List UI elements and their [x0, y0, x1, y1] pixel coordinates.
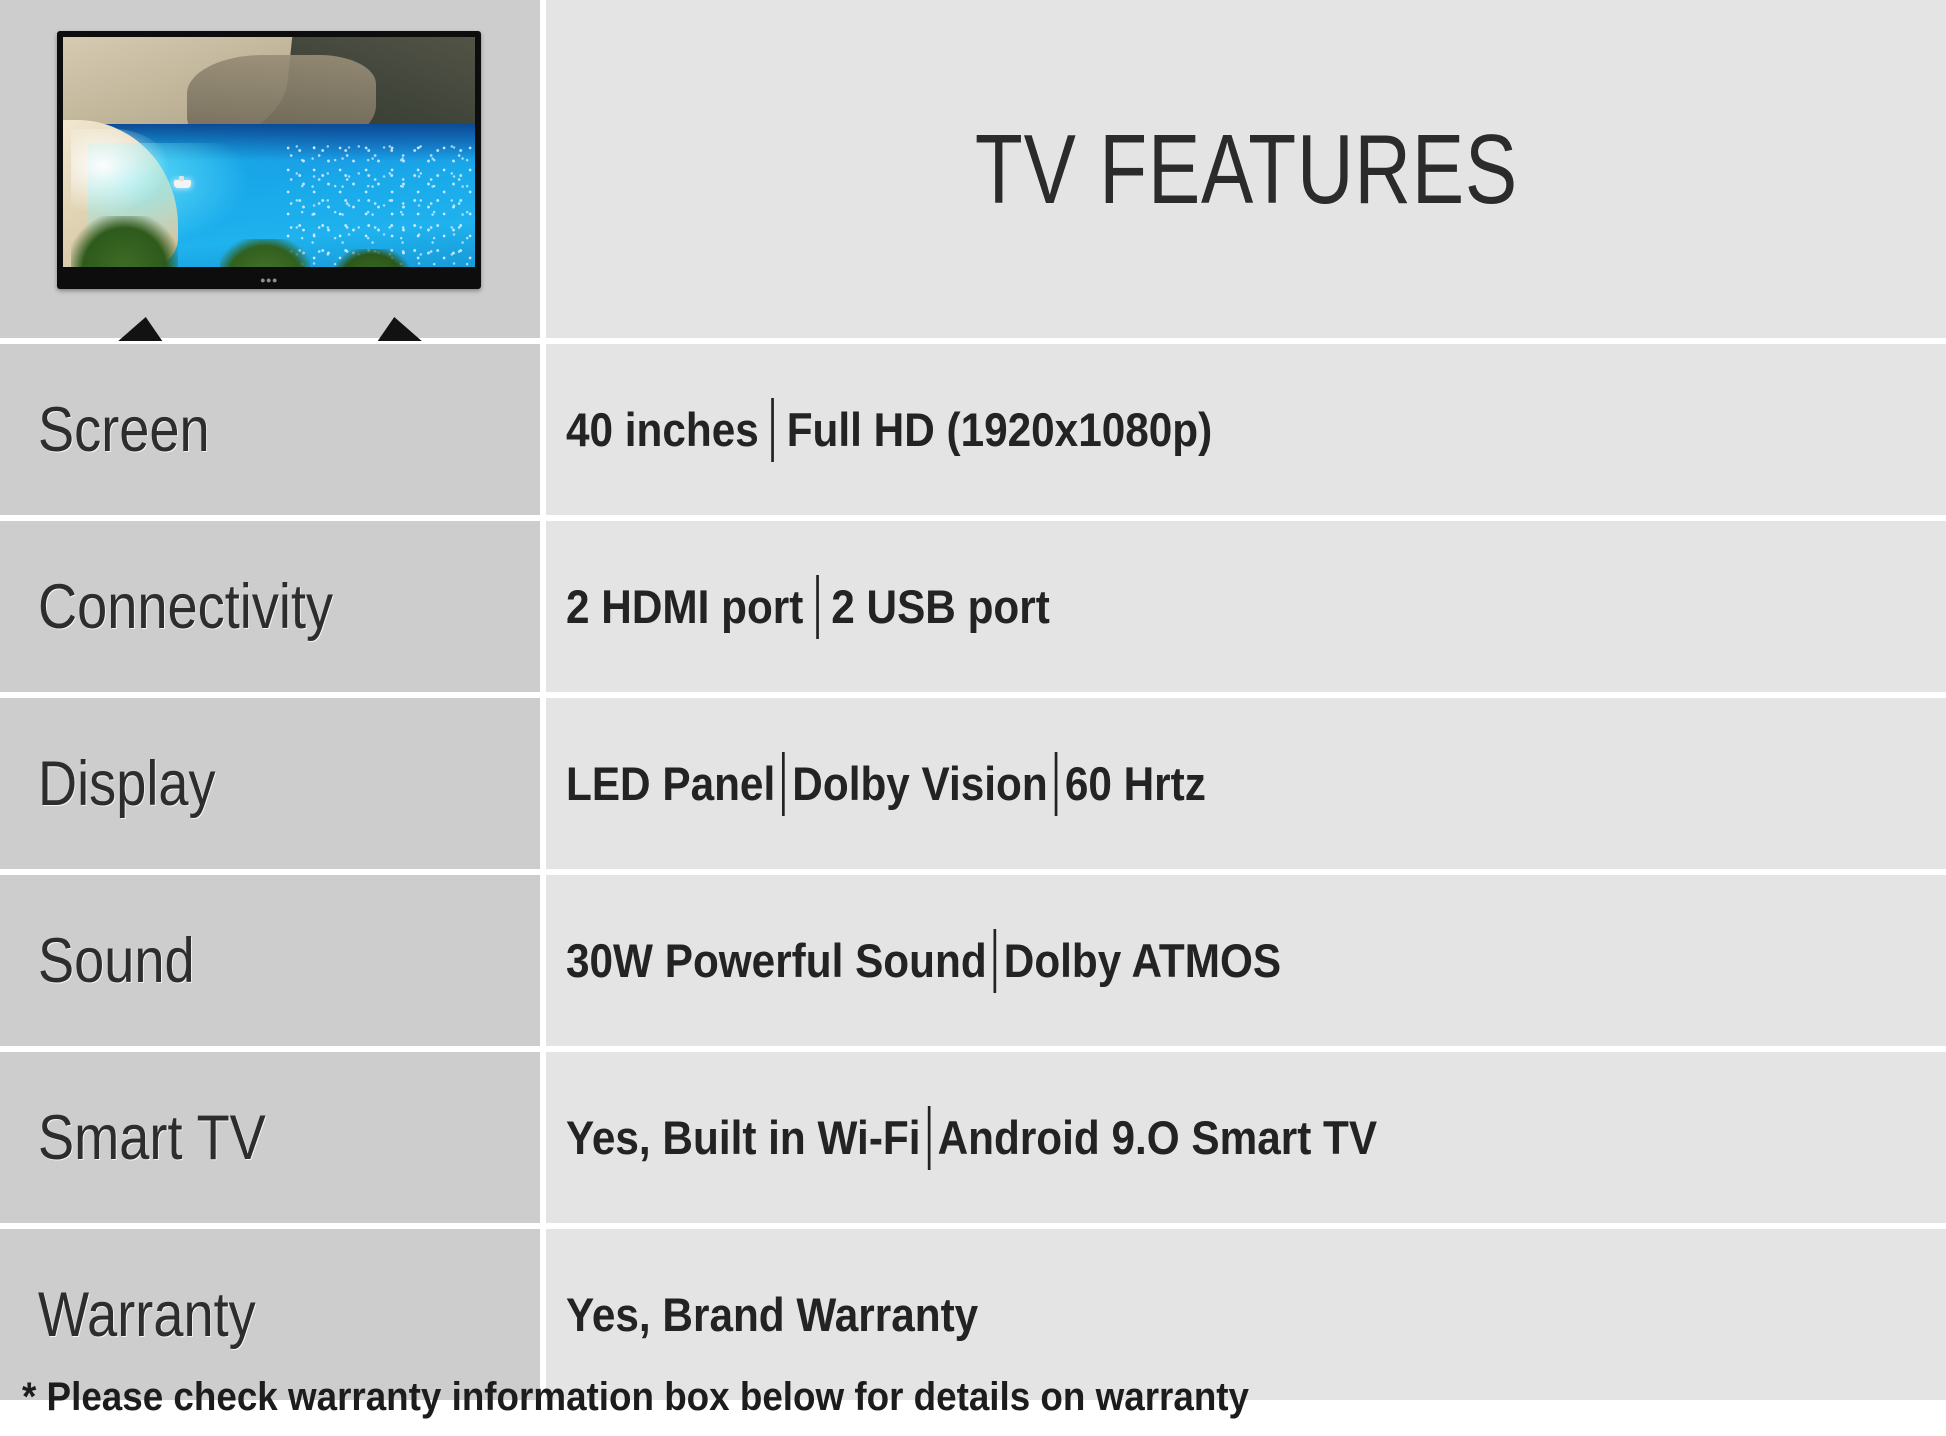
tv-brand-logo: ●●● [260, 275, 278, 285]
spec-value-cell-sound: 30W Powerful Sound Dolby ATMOS [546, 875, 1946, 1046]
title-cell: TV FEATURES [546, 0, 1946, 338]
pipe-separator-icon [816, 575, 819, 639]
table-row: Smart TV Yes, Built in Wi-Fi Android 9.O… [0, 1052, 1946, 1223]
spec-value-segment: 30W Powerful Sound [566, 933, 987, 988]
tv-features-infographic: ●●● TV FEATURES Screen 40 inches Full HD… [0, 0, 1946, 1436]
spec-value-segment: 60 Hrtz [1065, 756, 1206, 811]
spec-value-segment: Android 9.O Smart TV [938, 1110, 1378, 1165]
spec-label-cell-screen: Screen [0, 344, 540, 515]
product-image-cell: ●●● [0, 0, 540, 338]
boat-icon [174, 180, 191, 188]
spec-value-cell-connectivity: 2 HDMI port 2 USB port [546, 521, 1946, 692]
table-row: Display LED Panel Dolby Vision 60 Hrtz [0, 698, 1946, 869]
spec-value-segment: 2 USB port [831, 579, 1050, 634]
pipe-separator-icon [928, 1106, 931, 1170]
spec-value-cell-smart-tv: Yes, Built in Wi-Fi Android 9.O Smart TV [546, 1052, 1946, 1223]
tv-leg-left [116, 317, 163, 341]
spec-value-segment: Full HD (1920x1080p) [787, 402, 1213, 457]
tv-product-image: ●●● [25, 19, 515, 319]
spec-table: ●●● TV FEATURES Screen 40 inches Full HD… [0, 0, 1946, 1406]
spec-label-cell-smart-tv: Smart TV [0, 1052, 540, 1223]
spec-value-segment: 2 HDMI port [566, 579, 803, 634]
tv-body: ●●● [57, 31, 481, 289]
spec-value: Yes, Built in Wi-Fi Android 9.O Smart TV [566, 1106, 1377, 1170]
table-header-row: ●●● TV FEATURES [0, 0, 1946, 338]
pipe-separator-icon [782, 752, 785, 816]
spec-label: Sound [38, 925, 195, 997]
spec-value: 40 inches Full HD (1920x1080p) [566, 398, 1212, 462]
spec-value: 2 HDMI port 2 USB port [566, 575, 1050, 639]
spec-label-cell-sound: Sound [0, 875, 540, 1046]
spec-value-cell-display: LED Panel Dolby Vision 60 Hrtz [546, 698, 1946, 869]
spec-label-cell-connectivity: Connectivity [0, 521, 540, 692]
spec-value-segment: Dolby Vision [792, 756, 1047, 811]
pipe-separator-icon [994, 929, 997, 993]
table-row: Sound 30W Powerful Sound Dolby ATMOS [0, 875, 1946, 1046]
spec-label: Warranty [38, 1279, 256, 1351]
spec-value-segment: LED Panel [566, 756, 775, 811]
spec-value: LED Panel Dolby Vision 60 Hrtz [566, 752, 1206, 816]
spec-label: Screen [38, 394, 210, 466]
page-title: TV FEATURES [974, 113, 1517, 226]
foliage-center [220, 239, 311, 267]
foliage-right [335, 249, 409, 267]
pipe-separator-icon [1055, 752, 1058, 816]
tv-screen [63, 37, 475, 267]
spec-label: Connectivity [38, 571, 333, 643]
tv-leg-right [378, 317, 425, 341]
spec-value-segment: 40 inches [566, 402, 759, 457]
spec-value-cell-screen: 40 inches Full HD (1920x1080p) [546, 344, 1946, 515]
spec-value-segment: Yes, Built in Wi-Fi [566, 1110, 921, 1165]
spec-label: Smart TV [38, 1102, 266, 1174]
spec-value: Yes, Brand Warranty [566, 1287, 978, 1342]
spec-label-cell-display: Display [0, 698, 540, 869]
spec-value-segment: Yes, Brand Warranty [566, 1287, 978, 1342]
foliage-left [71, 216, 178, 267]
spec-label: Display [38, 748, 216, 820]
spec-value: 30W Powerful Sound Dolby ATMOS [566, 929, 1281, 993]
spec-value-segment: Dolby ATMOS [1004, 933, 1281, 988]
warranty-footnote: * Please check warranty information box … [22, 1375, 1249, 1420]
table-row: Screen 40 inches Full HD (1920x1080p) [0, 344, 1946, 515]
table-row: Connectivity 2 HDMI port 2 USB port [0, 521, 1946, 692]
pipe-separator-icon [771, 398, 774, 462]
